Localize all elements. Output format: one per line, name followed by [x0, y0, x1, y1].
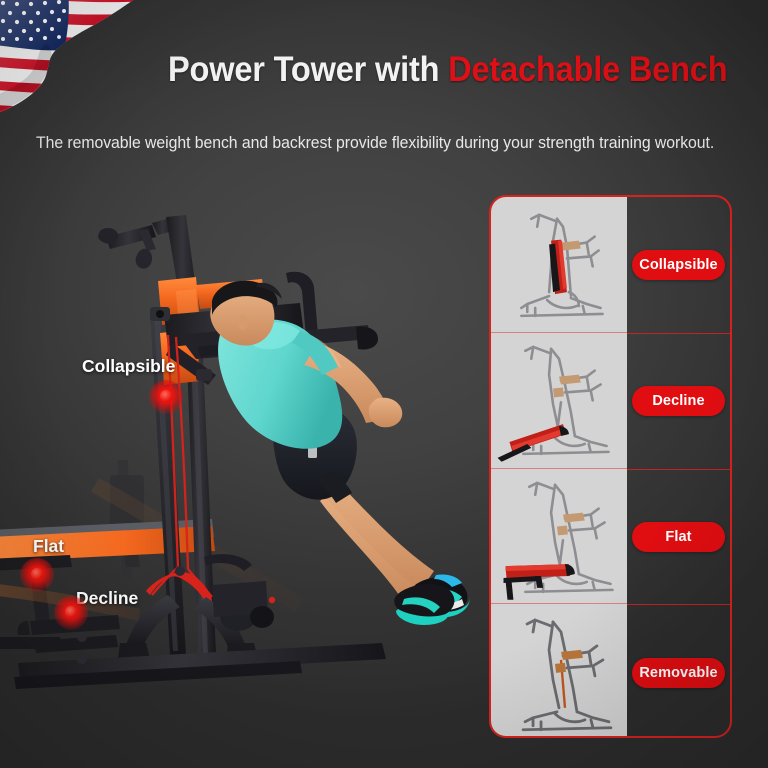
red-glow-dot	[54, 596, 88, 630]
subtitle-text: The removable weight bench and backrest …	[36, 131, 723, 156]
feature-thumbnail-column	[491, 197, 627, 736]
callout-decline[interactable]: Decline	[76, 588, 138, 609]
bench-flat-icon[interactable]	[491, 469, 627, 605]
title-white-part: Power Tower with	[168, 50, 448, 89]
badge-decline[interactable]: Decline	[632, 386, 725, 416]
callout-flat[interactable]: Flat	[33, 536, 64, 557]
usa-flag-icon	[0, 0, 146, 120]
title-red-part: Detachable Bench	[448, 50, 727, 89]
feature-panel: Collapsible Decline Flat Removable	[489, 195, 732, 738]
page-title: Power Tower with Detachable Bench	[168, 50, 717, 90]
callout-collapsible-label: Collapsible	[82, 356, 175, 377]
promo-canvas: Power Tower with Detachable Bench The re…	[0, 0, 768, 768]
row-divider	[627, 604, 730, 605]
row-divider	[627, 469, 730, 470]
red-glow-dot	[20, 558, 54, 592]
red-glow-dot	[149, 380, 183, 414]
callout-flat-label: Flat	[33, 536, 64, 557]
badge-removable[interactable]: Removable	[632, 658, 725, 688]
bench-decline-icon[interactable]	[491, 333, 627, 469]
badge-collapsible[interactable]: Collapsible	[632, 250, 725, 280]
callout-collapsible[interactable]: Collapsible	[82, 356, 175, 377]
badge-flat[interactable]: Flat	[632, 522, 725, 552]
tower-without-bench-icon[interactable]	[491, 604, 627, 738]
row-divider	[627, 333, 730, 334]
bench-upright-collapsible-icon[interactable]	[491, 197, 627, 333]
